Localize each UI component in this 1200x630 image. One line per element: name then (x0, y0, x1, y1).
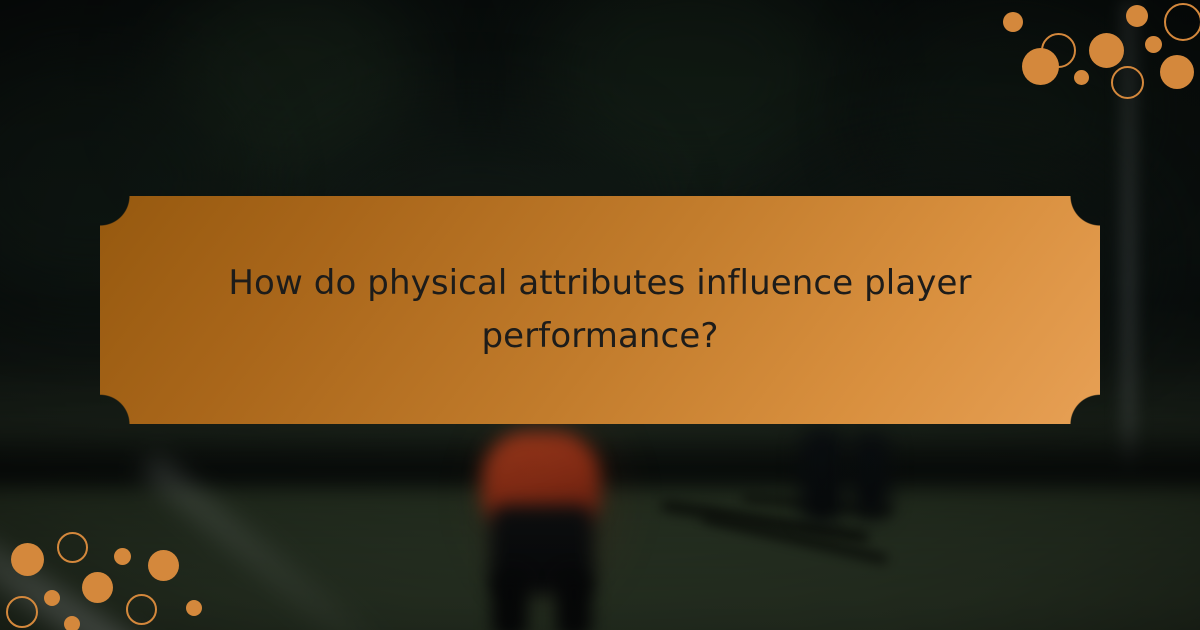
quote-card-graphic: How do physical attributes influence pla… (0, 0, 1200, 630)
quote-text: How do physical attributes influence pla… (220, 257, 980, 363)
quote-card: How do physical attributes influence pla… (100, 196, 1100, 424)
